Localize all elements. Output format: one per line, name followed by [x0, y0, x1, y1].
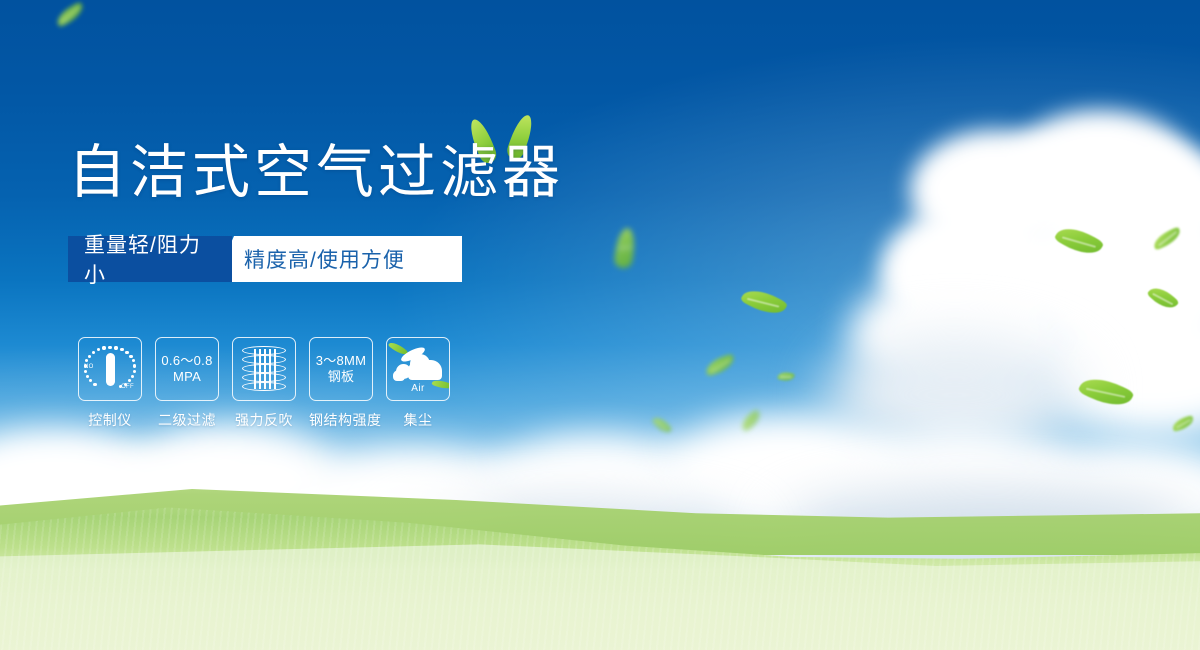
subtitle-bar: 重量轻/阻力小 精度高/使用方便 — [68, 236, 462, 282]
feature-list: NO OFF 控制仪 0.6～0.8 MPA 二级过滤 — [78, 337, 463, 430]
air-label: Air — [392, 383, 444, 394]
gauge-min-label: NO — [84, 364, 94, 370]
feature-label: 集尘 — [386, 410, 450, 430]
steel-plate-text: 钢板 — [316, 369, 367, 385]
feature-item-control-meter[interactable]: NO OFF 控制仪 — [78, 337, 142, 430]
page-title: 自洁式空气过滤器 — [68, 143, 564, 201]
cloud-puff — [410, 354, 430, 374]
feature-icon-box: NO OFF — [78, 337, 142, 401]
gauge-max-label: OFF — [121, 384, 134, 390]
feature-item-two-stage-filter[interactable]: 0.6～0.8 MPA 二级过滤 — [155, 337, 219, 430]
feature-icon-box: 3～8MM 钢板 — [309, 337, 373, 401]
feature-icon-box: 0.6～0.8 MPA — [155, 337, 219, 401]
feature-item-dust-collection[interactable]: Air 集尘 — [386, 337, 450, 430]
subtitle-badge-right: 精度高/使用方便 — [214, 236, 462, 282]
cloud-puff — [393, 370, 405, 381]
feature-item-steel-strength[interactable]: 3～8MM 钢板 钢结构强度 — [309, 337, 373, 430]
feature-label: 钢结构强度 — [309, 410, 373, 430]
feature-label: 强力反吹 — [232, 410, 296, 430]
steel-thickness-text: 3～8MM — [316, 353, 367, 368]
feature-icon-box: Air — [386, 337, 450, 401]
gauge-needle — [106, 353, 115, 386]
feature-icon-box — [232, 337, 296, 401]
gauge-dial-icon: NO OFF — [85, 344, 135, 394]
filter-cartridge-icon — [242, 346, 286, 392]
steel-thickness-icon: 3～8MM 钢板 — [316, 353, 367, 385]
feature-item-pulse-blowback[interactable]: 强力反吹 — [232, 337, 296, 430]
product-banner: 自洁式空气过滤器 重量轻/阻力小 精度高/使用方便 — [0, 0, 1200, 650]
cloud-cluster-right — [880, 110, 1200, 440]
air-cloud-icon: Air — [392, 348, 444, 390]
pressure-unit-text: MPA — [161, 369, 212, 385]
feature-label: 控制仪 — [78, 410, 142, 430]
pressure-value-icon: 0.6～0.8 MPA — [161, 353, 212, 385]
subtitle-badge-left: 重量轻/阻力小 — [68, 236, 232, 282]
feature-label: 二级过滤 — [155, 410, 219, 430]
pressure-range-text: 0.6～0.8 — [161, 353, 212, 368]
